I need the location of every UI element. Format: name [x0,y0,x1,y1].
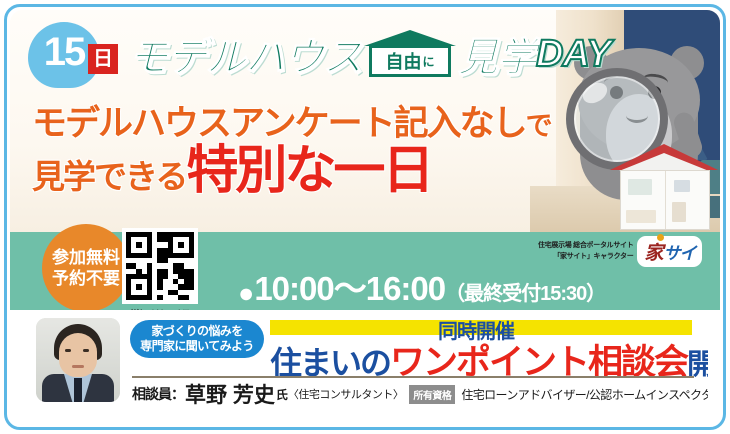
event-logo-part2: 見学 [458,25,536,83]
event-time: ●10:00〜16:00（最終受付15:30） [238,262,605,310]
consultant-label: 相談員： [132,384,184,404]
headline-line1: モデルハウスアンケート記入なしで [32,106,551,143]
time-bullet-icon: ● [238,278,254,308]
consultant-avatar [36,318,120,402]
house-room-left [621,171,666,229]
house-logo-roof [364,30,456,46]
headline-line2-a: 見学できる [32,158,186,195]
house-logo-text2: に [422,53,434,70]
headline-line1-tail: で [526,111,551,141]
consultant-honorific: 氏 [276,386,288,403]
house-room-right [666,171,710,229]
bubble-line1: 家づくりの悩みを [151,324,242,339]
iesai-credit-text: 住宅展示場 総合ポータルサイト 「家サイト」キャラクター [538,241,633,262]
avatar-tie [74,378,82,402]
headline-line1-main: モデルハウスアンケート記入なし [32,104,526,143]
consultation-panel: 家づくりの悩みを 専門家に聞いてみよう 同時開催 住まいのワンポイント相談会開催… [22,310,708,416]
event-logo-day: DAY [536,33,610,76]
free-badge-line2: 予約不要 [52,268,120,289]
qr-code-icon[interactable] [122,228,198,304]
house-roof-inner [619,153,709,171]
house-interior [620,170,710,230]
date-badge-unit: 日 [88,44,118,74]
consultant-role: 〈住宅コンサルタント〉 [288,386,404,402]
avatar-eye-left [65,349,71,352]
iesai-logo-a: 家 [644,238,662,265]
date-badge: 15 日 [28,22,138,80]
free-entry-badge: 参加無料 予約不要 [42,224,130,312]
house-furniture [626,210,656,223]
qualifications-text: 住宅ローンアドバイザー/公認ホームインスペクター等 [461,386,708,403]
house-furniture [628,179,652,195]
iesai-credit-line2: 「家サイト」キャラクター [538,252,633,263]
cutaway-house-model [610,144,718,230]
house-logo-text1: 自由 [385,48,421,74]
iesai-credit-line1: 住宅展示場 総合ポータルサイト [538,241,633,252]
headline: モデルハウスアンケート記入なしで 見学できる特別な一日 [32,106,551,198]
time-range: 10:00〜16:00 [254,270,445,307]
house-logo-box: 自由 に [369,45,451,77]
avatar-mouth [72,365,84,368]
consultant-name: 草野 芳史 [184,379,276,409]
promo-banner: 15 日 モデルハウス 自由 に 見学 DAY モデルハウスアンケート記入なしで… [0,0,730,434]
house-furniture [674,180,690,192]
iesai-logo: 家 サイ [637,236,702,267]
banner-outer-frame: 15 日 モデルハウス 自由 に 見学 DAY モデルハウスアンケート記入なしで… [4,4,726,430]
time-last-entry: （最終受付15:30） [445,283,605,305]
iesai-logo-b: サイ [663,239,695,264]
avatar-face [59,333,97,377]
bubble-line2: 専門家に聞いてみよう [140,339,254,354]
banner-inner-frame: 15 日 モデルハウス 自由 に 見学 DAY モデルハウスアンケート記入なしで… [10,10,720,424]
panel-divider [132,376,694,378]
qualifications-badge: 所有資格 [409,385,455,404]
house-furniture [672,202,686,222]
free-badge-line1: 参加無料 [52,247,120,268]
avatar-eye-right [83,349,89,352]
headline-line2: 見学できる特別な一日 [32,145,551,198]
consultant-credit: 相談員： 草野 芳史 氏 〈住宅コンサルタント〉 所有資格 住宅ローンアドバイザ… [132,382,698,406]
event-logo-part1: モデルハウス [128,25,362,83]
qr-code-block[interactable]: 詳しくはコチラ [122,228,198,320]
iesai-character-credit: 住宅展示場 総合ポータルサイト 「家サイト」キャラクター 家 サイ [538,236,702,267]
house-logo-icon: 自由 に [364,30,456,78]
event-logo: モデルハウス 自由 に 見学 DAY [128,26,610,82]
headline-line2-b: 特別な一日 [186,142,431,200]
speech-bubble: 家づくりの悩みを 専門家に聞いてみよう [130,320,264,358]
